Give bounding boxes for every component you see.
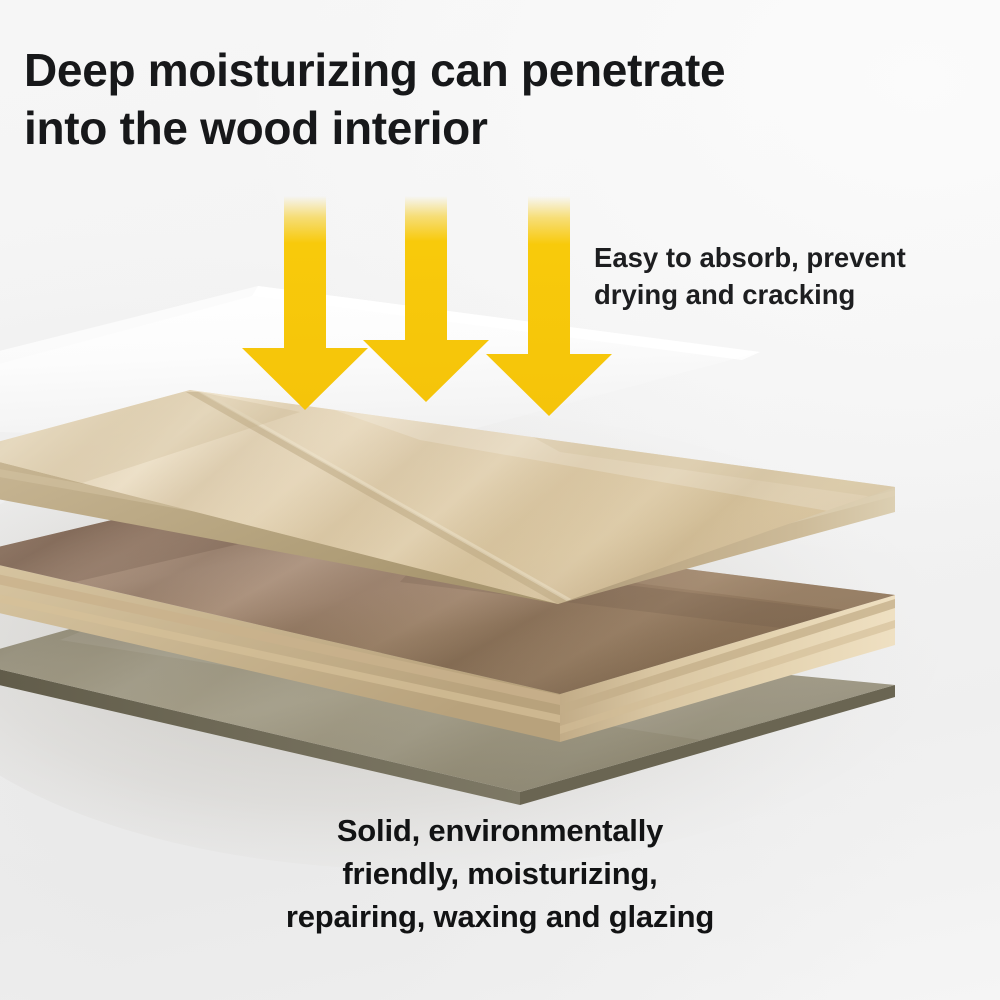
feature-note-absorb: Easy to absorb, prevent drying and crack… (594, 240, 990, 313)
feature-note-benefits: Solid, environmentally friendly, moistur… (100, 810, 900, 938)
infographic-canvas: Deep moisturizing can penetrate into the… (0, 0, 1000, 1000)
penetration-arrows (242, 196, 612, 416)
page-title: Deep moisturizing can penetrate into the… (24, 42, 924, 157)
